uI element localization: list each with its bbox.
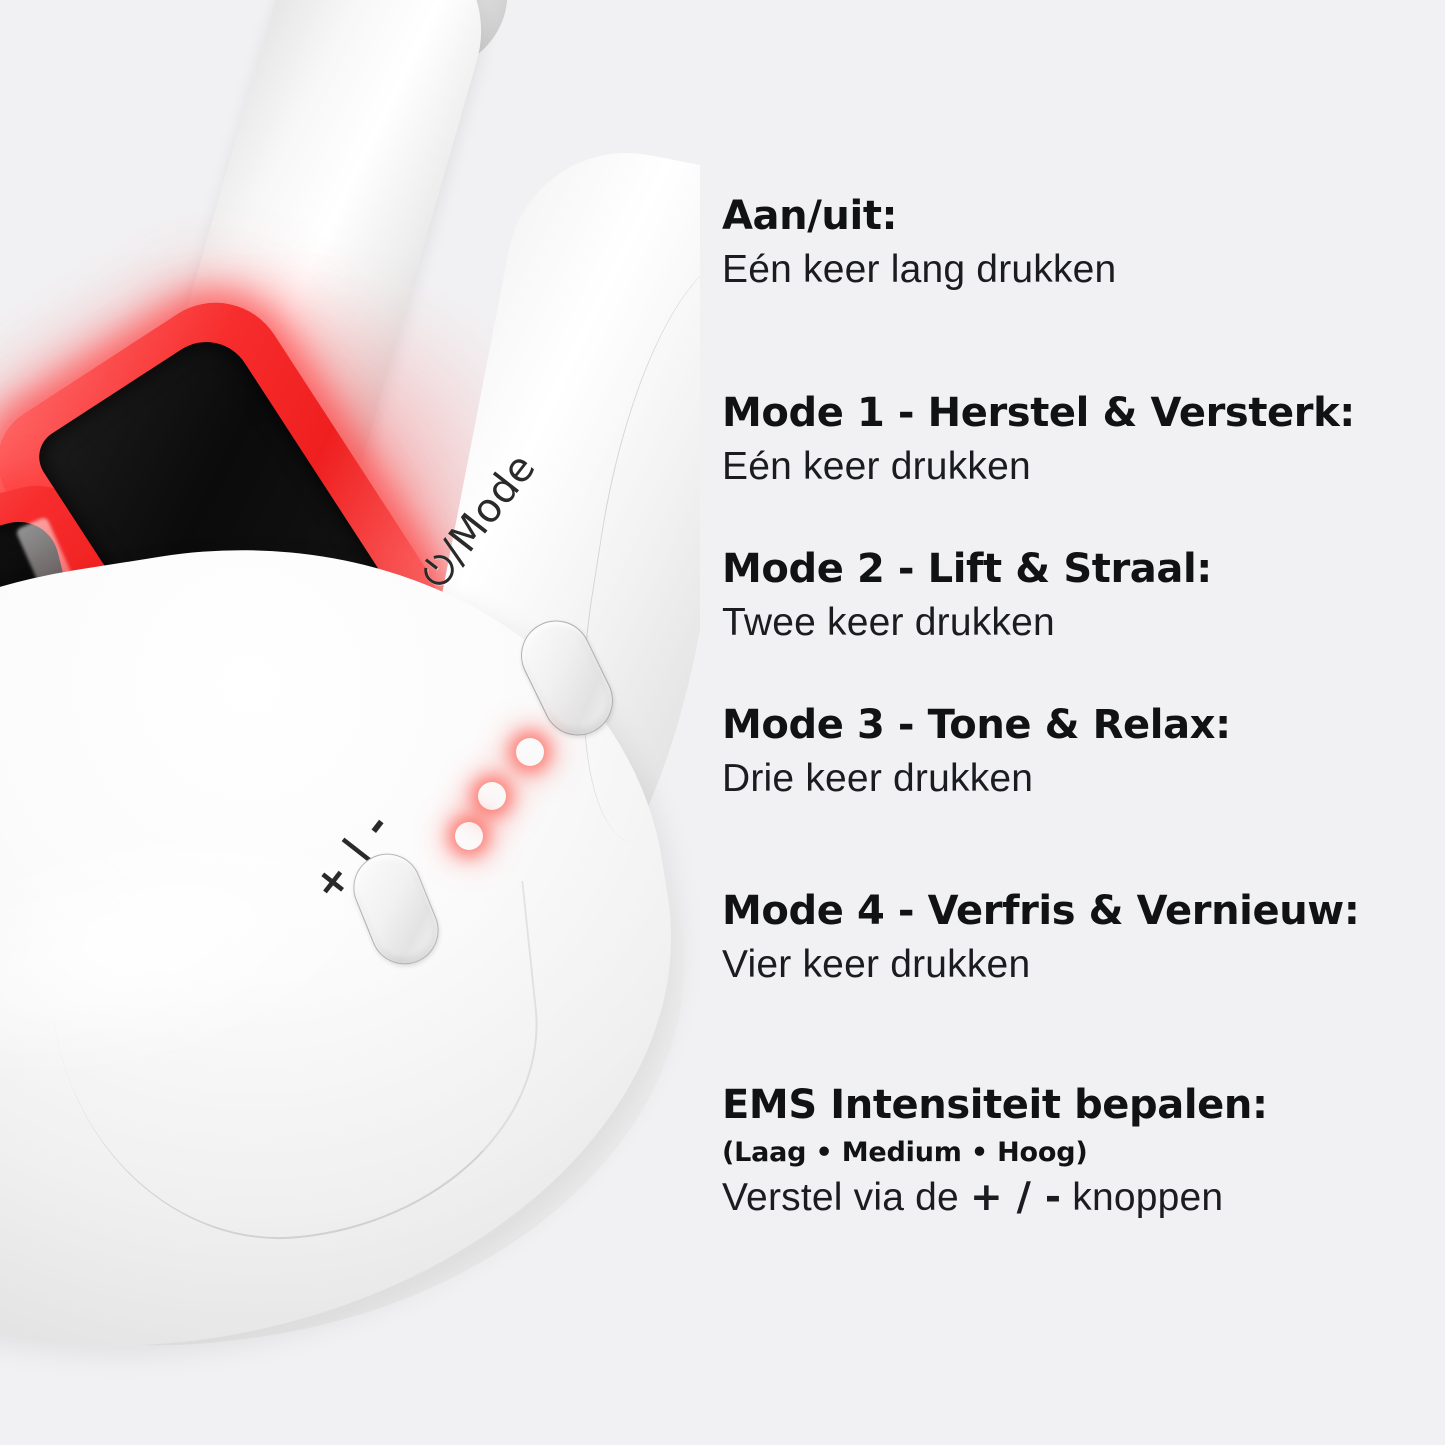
led-indicator-2 xyxy=(478,782,506,810)
mode-1-detail: Eén keer drukken xyxy=(722,443,1422,491)
intensity-heading: EMS Intensiteit bepalen: xyxy=(722,1082,1422,1129)
power-heading: Aan/uit: xyxy=(722,193,1422,240)
mode-2-heading: Mode 2 - Lift & Straal: xyxy=(722,546,1422,593)
mode-4-detail: Vier keer drukken xyxy=(722,941,1422,989)
mode-3-detail: Drie keer drukken xyxy=(722,755,1422,803)
intensity-detail-buttons: + / - xyxy=(970,1175,1061,1220)
intensity-levels: (Laag • Medium • Hoog) xyxy=(722,1137,1422,1168)
mode-3-heading: Mode 3 - Tone & Relax: xyxy=(722,702,1422,749)
led-indicator-1 xyxy=(516,738,544,766)
intensity-detail-suffix: knoppen xyxy=(1061,1176,1223,1219)
instruction-text-column: Aan/uit: Eén keer lang drukken Mode 1 - … xyxy=(722,0,1422,1445)
mode-2-detail: Twee keer drukken xyxy=(722,599,1422,647)
led-indicator-3 xyxy=(455,822,483,850)
product-photo: ⏻/Mode + | - xyxy=(0,0,700,1445)
product-instruction-card: ⏻/Mode + | - Aan/uit: Eén keer lang druk… xyxy=(0,0,1445,1445)
instruction-block-mode-4: Mode 4 - Verfris & Vernieuw: Vier keer d… xyxy=(722,888,1422,989)
intensity-detail-prefix: Verstel via de xyxy=(722,1176,970,1219)
mode-4-heading: Mode 4 - Verfris & Vernieuw: xyxy=(722,888,1422,935)
instruction-block-mode-3: Mode 3 - Tone & Relax: Drie keer drukken xyxy=(722,702,1422,803)
mode-1-heading: Mode 1 - Herstel & Versterk: xyxy=(722,390,1422,437)
instruction-block-mode-2: Mode 2 - Lift & Straal: Twee keer drukke… xyxy=(722,546,1422,647)
instruction-block-intensity: EMS Intensiteit bepalen: (Laag • Medium … xyxy=(722,1082,1422,1222)
intensity-detail: Verstel via de + / - knoppen xyxy=(722,1174,1422,1222)
instruction-block-power: Aan/uit: Eén keer lang drukken xyxy=(722,193,1422,294)
instruction-block-mode-1: Mode 1 - Herstel & Versterk: Eén keer dr… xyxy=(722,390,1422,491)
power-detail: Eén keer lang drukken xyxy=(722,246,1422,294)
